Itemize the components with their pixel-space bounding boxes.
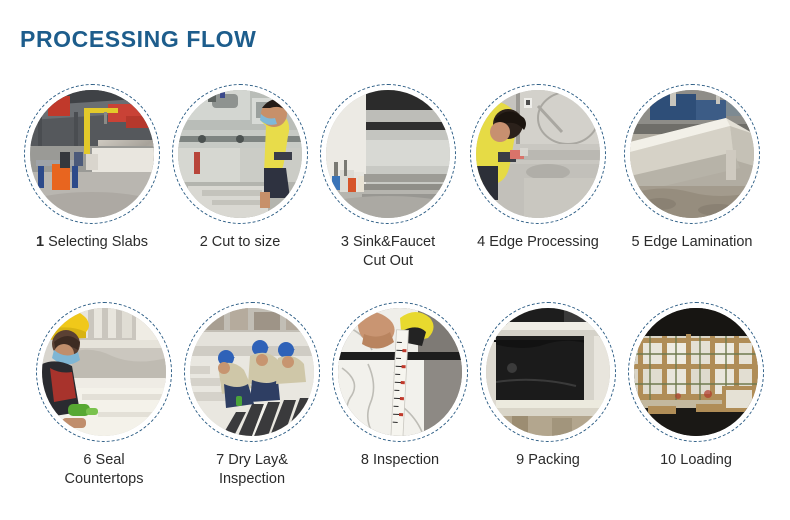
step-4-dashed-ring [470, 84, 606, 224]
step-3-sink-faucet-cut-out[interactable]: 3 Sink&Faucet Cut Out [314, 84, 462, 271]
step-10-label: Loading [680, 452, 732, 468]
step-1-label: Selecting Slabs [48, 234, 148, 250]
step-7-image-frame [184, 302, 320, 442]
step-10-number: 10 [660, 452, 676, 468]
step-7-number: 7 [216, 452, 224, 468]
step-7-caption: 7 Dry Lay& Inspection [172, 451, 332, 489]
step-10-caption: 10 Loading [616, 451, 776, 470]
step-10-loading[interactable]: 10 Loading [622, 302, 770, 489]
step-1-number: 1 [36, 234, 44, 250]
step-6-image-frame [36, 302, 172, 442]
step-4-label: Edge Processing [489, 234, 599, 250]
step-3-dashed-ring [320, 84, 456, 224]
step-9-label: Packing [528, 452, 580, 468]
step-3-label: Sink&Faucet Cut Out [353, 234, 435, 269]
step-2-image-frame [172, 84, 308, 224]
step-9-packing[interactable]: 9 Packing [474, 302, 622, 489]
step-8-dashed-ring [332, 302, 468, 442]
step-4-number: 4 [477, 234, 485, 250]
step-2-cut-to-size[interactable]: 2 Cut to size [166, 84, 314, 271]
step-2-dashed-ring [172, 84, 308, 224]
step-4-caption: 4 Edge Processing [458, 233, 618, 252]
processing-flow-page: PROCESSING FLOW [0, 0, 790, 520]
step-7-dashed-ring [184, 302, 320, 442]
step-1-image-frame [24, 84, 160, 224]
step-8-caption: 8 Inspection [320, 451, 480, 470]
step-6-dashed-ring [36, 302, 172, 442]
step-2-caption: 2 Cut to size [160, 233, 320, 252]
step-9-caption: 9 Packing [468, 451, 628, 470]
step-6-caption: 6 Seal Countertops [24, 451, 184, 489]
step-6-seal-countertops[interactable]: 6 Seal Countertops [30, 302, 178, 489]
step-5-number: 5 [632, 234, 640, 250]
step-8-inspection[interactable]: 8 Inspection [326, 302, 474, 489]
step-6-label: Seal Countertops [65, 452, 144, 487]
step-3-caption: 3 Sink&Faucet Cut Out [303, 233, 473, 271]
step-8-label: Inspection [373, 452, 439, 468]
step-2-label: Cut to size [212, 234, 281, 250]
step-5-dashed-ring [624, 84, 760, 224]
steps-row-2: 6 Seal Countertops [0, 302, 790, 489]
step-1-caption: 1 Selecting Slabs [12, 233, 172, 252]
step-10-image-frame [628, 302, 764, 442]
step-5-image-frame [624, 84, 760, 224]
step-9-dashed-ring [480, 302, 616, 442]
step-3-image-frame [320, 84, 456, 224]
step-5-edge-lamination[interactable]: 5 Edge Lamination [618, 84, 766, 271]
step-9-image-frame [480, 302, 616, 442]
step-5-caption: 5 Edge Lamination [612, 233, 772, 252]
step-4-image-frame [470, 84, 606, 224]
step-6-number: 6 [83, 452, 91, 468]
step-4-edge-processing[interactable]: 4 Edge Processing [464, 84, 612, 271]
step-8-image-frame [332, 302, 468, 442]
step-3-number: 3 [341, 234, 349, 250]
step-7-dry-lay-inspection[interactable]: 7 Dry Lay& Inspection [178, 302, 326, 489]
step-8-number: 8 [361, 452, 369, 468]
page-title: PROCESSING FLOW [20, 26, 256, 53]
step-7-label: Dry Lay& Inspection [219, 452, 288, 487]
step-10-dashed-ring [628, 302, 764, 442]
step-9-number: 9 [516, 452, 524, 468]
step-2-number: 2 [200, 234, 208, 250]
step-5-label: Edge Lamination [644, 234, 753, 250]
steps-row-1: 1 Selecting Slabs [0, 84, 790, 271]
step-1-selecting-slabs[interactable]: 1 Selecting Slabs [18, 84, 166, 271]
step-1-dashed-ring [24, 84, 160, 224]
